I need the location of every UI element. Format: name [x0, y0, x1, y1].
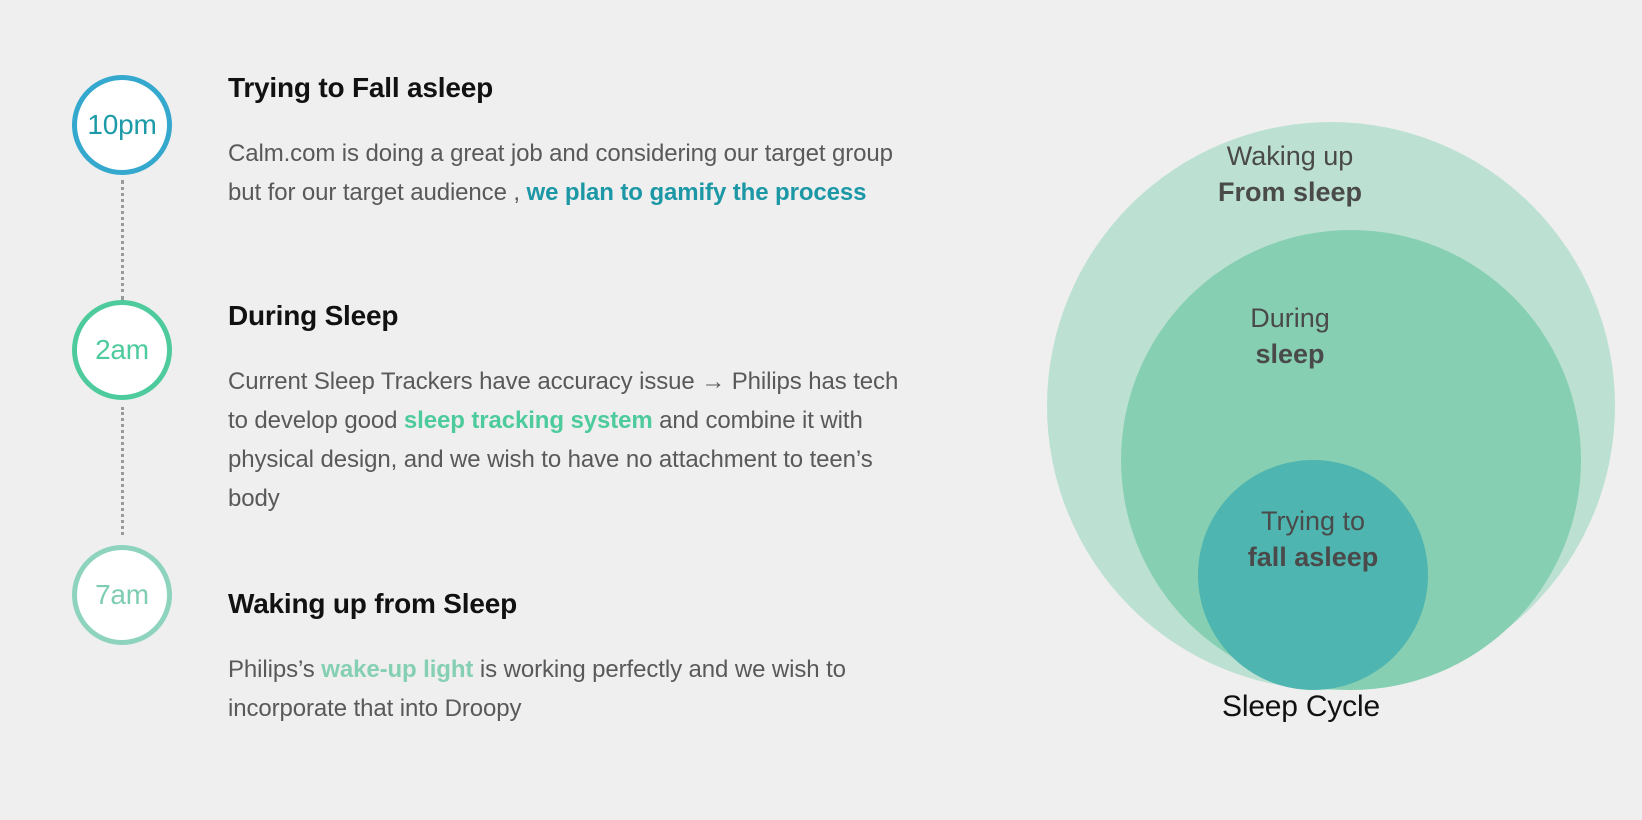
cycle-label-waking-up: Waking up From sleep — [1130, 138, 1450, 210]
block-1-body-highlight: we plan to gamify the process — [527, 179, 867, 206]
block-3-heading: Waking up from Sleep — [228, 588, 918, 620]
block-2-heading: During Sleep — [228, 300, 918, 332]
slide-root: 10pm 2am 7am Trying to Fall asleep Calm.… — [0, 0, 1642, 820]
cycle-label-inner-line2: fall asleep — [1153, 539, 1473, 575]
timeline-block-waking-up-from-sleep: Waking up from Sleep Philips’s wake-up l… — [228, 588, 918, 728]
timeline-section: 10pm 2am 7am Trying to Fall asleep Calm.… — [0, 0, 960, 820]
cycle-label-middle-line2: sleep — [1130, 336, 1450, 372]
timeline-block-during-sleep: During Sleep Current Sleep Trackers have… — [228, 300, 918, 518]
cycle-label-trying-to-fall-asleep: Trying to fall asleep — [1153, 503, 1473, 575]
cycle-label-during-sleep: During sleep — [1130, 300, 1450, 372]
cycle-label-outer-line1: Waking up — [1227, 141, 1354, 171]
block-2-body-highlight: sleep tracking system — [404, 407, 653, 434]
timeline-rail: 10pm 2am 7am — [72, 72, 172, 672]
timeline-node-2am[interactable]: 2am — [72, 300, 172, 400]
cycle-caption: Sleep Cycle — [960, 690, 1642, 724]
cycle-ring-inner — [1198, 460, 1428, 690]
sleep-cycle-diagram: Waking up From sleep During sleep Trying… — [960, 0, 1642, 820]
timeline-node-2am-label: 2am — [95, 334, 149, 366]
timeline-connector-1 — [121, 180, 124, 300]
block-1-body: Calm.com is doing a great job and consid… — [228, 134, 918, 212]
timeline-node-7am-label: 7am — [95, 579, 149, 611]
block-3-body-highlight: wake-up light — [321, 656, 473, 683]
timeline-connector-2 — [121, 407, 124, 535]
cycle-label-middle-line1: During — [1250, 303, 1330, 333]
block-1-heading: Trying to Fall asleep — [228, 72, 918, 104]
block-2-body: Current Sleep Trackers have accuracy iss… — [228, 362, 918, 518]
cycle-label-outer-line2: From sleep — [1130, 174, 1450, 210]
block-3-body-pre: Philips’s — [228, 656, 321, 683]
timeline-node-10pm[interactable]: 10pm — [72, 75, 172, 175]
block-3-body: Philips’s wake-up light is working perfe… — [228, 650, 918, 728]
cycle-label-inner-line1: Trying to — [1261, 506, 1365, 536]
timeline-node-10pm-label: 10pm — [87, 109, 156, 141]
timeline-node-7am[interactable]: 7am — [72, 545, 172, 645]
timeline-block-trying-to-fall-asleep: Trying to Fall asleep Calm.com is doing … — [228, 72, 918, 212]
